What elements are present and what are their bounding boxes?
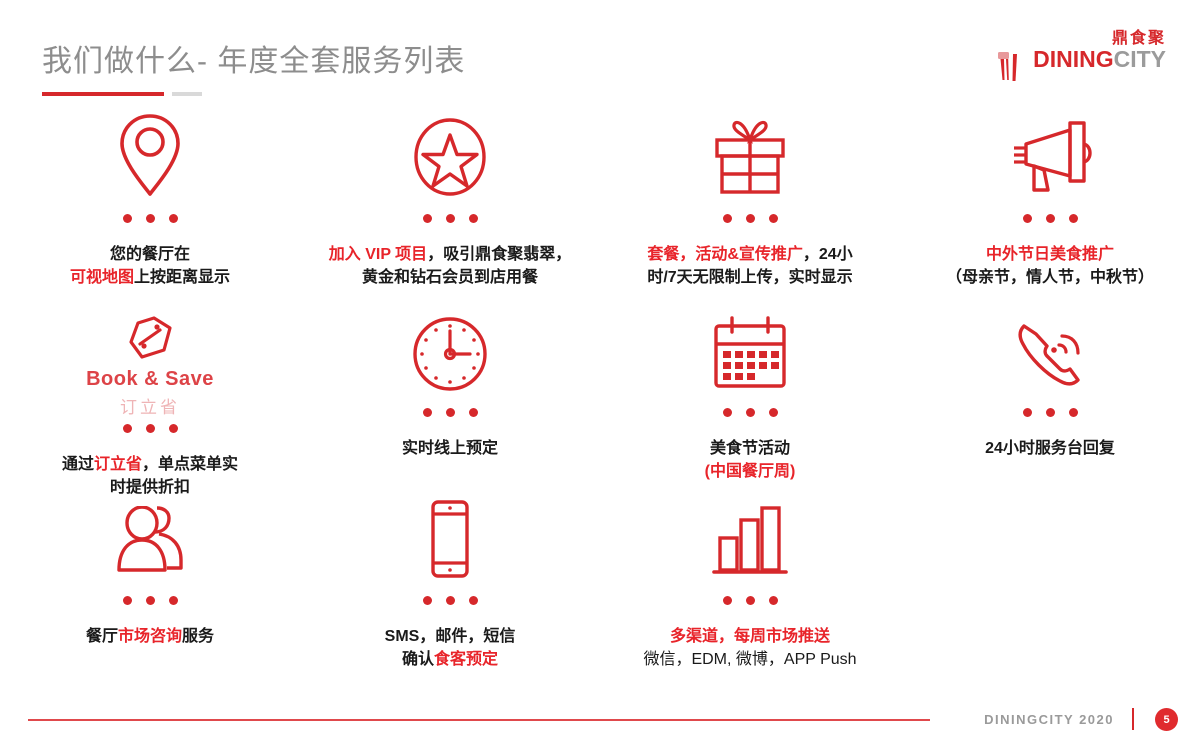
chopsticks-logo-mark-icon: [996, 50, 1022, 82]
clock-icon: [410, 314, 490, 394]
brand-logo-dining: DINING: [1033, 46, 1114, 72]
caption-line: 24小时服务台回复: [985, 437, 1115, 460]
service-item-map[interactable]: 您的餐厅在可视地图上按距离显示: [0, 118, 300, 314]
caption-text: 实时线上预定: [402, 440, 498, 457]
service-item-book-and-save[interactable]: Book & Save 订立省 通过订立省，单点菜单实时提供折扣: [0, 314, 300, 504]
book-and-save-chinese: 订立省: [86, 393, 214, 418]
dots-separator: [423, 408, 478, 417]
dots-separator: [1023, 214, 1078, 223]
service-item-festival-promo[interactable]: 中外节日美食推广（母亲节，情人节，中秋节）: [900, 118, 1200, 314]
caption-highlight: 加入 VIP 项目: [329, 246, 427, 263]
title-underline-red: [42, 92, 164, 96]
caption-highlight: 食客预定: [434, 651, 498, 668]
caption-line: 实时线上预定: [402, 437, 498, 460]
caption-line: 确认食客预定: [385, 648, 516, 671]
footer-divider: [28, 719, 930, 721]
caption-text: 美食节活动: [710, 440, 790, 457]
service-row-3: 餐厅市场咨询服务 SMS，邮件，短信确认食客预定: [0, 504, 1200, 692]
footer-brand: DININGCITY 2020: [984, 712, 1114, 727]
caption-text: SMS，邮件，短信: [385, 628, 516, 645]
caption-highlight: 订立省: [94, 456, 142, 473]
dots-separator: [723, 596, 778, 605]
caption-highlight: 可视地图: [70, 269, 134, 286]
service-caption: 多渠道，每周市场推送微信，EDM, 微博，APP Push: [643, 625, 856, 671]
dots-separator: [723, 214, 778, 223]
dots-separator: [123, 596, 178, 605]
caption-line: 可视地图上按距离显示: [70, 266, 230, 289]
caption-text: 确认: [402, 651, 434, 668]
dots-separator: [123, 214, 178, 223]
service-caption: 中外节日美食推广（母亲节，情人节，中秋节）: [946, 243, 1154, 289]
dots-separator: [123, 424, 178, 433]
caption-line: 时提供折扣: [62, 476, 238, 499]
service-row-2: Book & Save 订立省 通过订立省，单点菜单实时提供折扣: [0, 314, 1200, 504]
calendar-icon: [709, 314, 791, 394]
service-item-sms-confirm[interactable]: SMS，邮件，短信确认食客预定: [300, 504, 600, 692]
caption-highlight: (中国餐厅周): [705, 463, 796, 480]
caption-line: （母亲节，情人节，中秋节）: [946, 266, 1154, 289]
caption-text: ，24小: [803, 246, 853, 263]
gift-box-icon: [707, 118, 793, 198]
service-caption: 通过订立省，单点菜单实时提供折扣: [62, 453, 238, 499]
title-underline-gray: [172, 92, 202, 96]
caption-text: 黄金和钻石会员到店用餐: [362, 269, 538, 286]
page-title: 我们做什么- 年度全套服务列表: [42, 36, 465, 80]
service-item-support-desk[interactable]: 24小时服务台回复: [900, 314, 1200, 504]
book-and-save-lockup: Book & Save 订立省: [86, 368, 214, 418]
bar-chart-icon: [710, 504, 790, 580]
service-caption: 加入 VIP 项目，吸引鼎食聚翡翠，黄金和钻石会员到店用餐: [329, 243, 571, 289]
caption-line: 中外节日美食推广: [946, 243, 1154, 266]
service-caption: 实时线上预定: [402, 437, 498, 460]
dots-separator: [723, 408, 778, 417]
title-underline: [42, 92, 202, 96]
caption-line: 加入 VIP 项目，吸引鼎食聚翡翠，: [329, 243, 571, 266]
service-grid: 您的餐厅在可视地图上按距离显示 加入 VIP 项目，吸引鼎食聚翡翠，黄金和钻石会…: [0, 118, 1200, 692]
brand-logo-english: DININGCITY: [1033, 48, 1166, 71]
dots-separator: [423, 214, 478, 223]
caption-highlight: 多渠道，每周市场推送: [670, 628, 830, 645]
caption-text: 您的餐厅在: [110, 246, 190, 263]
caption-text: 餐厅: [86, 628, 118, 645]
service-caption: 美食节活动(中国餐厅周): [705, 437, 796, 483]
slide-root: 我们做什么- 年度全套服务列表 鼎食聚 DININGCITY: [0, 0, 1200, 749]
service-item-market-consulting[interactable]: 餐厅市场咨询服务: [0, 504, 300, 692]
caption-line: 餐厅市场咨询服务: [86, 625, 214, 648]
caption-highlight: 中外节日美食推广: [986, 246, 1114, 263]
phone-ring-icon: [1010, 314, 1090, 394]
caption-line: 通过订立省，单点菜单实: [62, 453, 238, 476]
caption-text: 时提供折扣: [110, 479, 190, 496]
service-item-vip[interactable]: 加入 VIP 项目，吸引鼎食聚翡翠，黄金和钻石会员到店用餐: [300, 118, 600, 314]
caption-highlight: 套餐，活动&宣传推广: [647, 246, 803, 263]
caption-line: (中国餐厅周): [705, 460, 796, 483]
smartphone-icon: [425, 504, 475, 580]
star-circle-icon: [407, 118, 493, 198]
users-icon: [107, 504, 193, 580]
caption-line: SMS，邮件，短信: [385, 625, 516, 648]
book-and-save-english: Book & Save: [86, 368, 214, 391]
caption-line: 黄金和钻石会员到店用餐: [329, 266, 571, 289]
footer-separator: [1132, 708, 1134, 730]
brand-logo-city: CITY: [1114, 46, 1166, 72]
caption-line: 美食节活动: [705, 437, 796, 460]
brand-logo: 鼎食聚 DININGCITY: [988, 24, 1168, 84]
map-pin-icon: [117, 118, 183, 198]
service-caption: SMS，邮件，短信确认食客预定: [385, 625, 516, 671]
caption-line: 微信，EDM, 微博，APP Push: [643, 648, 856, 671]
caption-text: ，单点菜单实: [142, 456, 238, 473]
discount-tag-icon: [126, 314, 174, 362]
caption-text: 24小时服务台回复: [985, 440, 1115, 457]
caption-text: 时/7天无限制上传，实时显示: [647, 269, 852, 286]
caption-text: 通过: [62, 456, 94, 473]
dots-separator: [423, 596, 478, 605]
dots-separator: [1023, 408, 1078, 417]
service-caption: 24小时服务台回复: [985, 437, 1115, 460]
service-item-multichannel-push[interactable]: 多渠道，每周市场推送微信，EDM, 微博，APP Push: [600, 504, 900, 692]
caption-line: 套餐，活动&宣传推广，24小: [647, 243, 852, 266]
service-item-realtime-booking[interactable]: 实时线上预定: [300, 314, 600, 504]
service-item-promotion[interactable]: 套餐，活动&宣传推广，24小时/7天无限制上传，实时显示: [600, 118, 900, 314]
service-row-1: 您的餐厅在可视地图上按距离显示 加入 VIP 项目，吸引鼎食聚翡翠，黄金和钻石会…: [0, 118, 1200, 314]
caption-line: 您的餐厅在: [70, 243, 230, 266]
caption-text: （母亲节，情人节，中秋节）: [946, 269, 1154, 286]
service-caption: 餐厅市场咨询服务: [86, 625, 214, 648]
caption-text: 服务: [182, 628, 214, 645]
service-item-food-festival[interactable]: 美食节活动(中国餐厅周): [600, 314, 900, 504]
service-caption: 您的餐厅在可视地图上按距离显示: [70, 243, 230, 289]
service-caption: 套餐，活动&宣传推广，24小时/7天无限制上传，实时显示: [647, 243, 852, 289]
caption-line: 多渠道，每周市场推送: [643, 625, 856, 648]
megaphone-icon: [1004, 118, 1096, 198]
caption-line: 时/7天无限制上传，实时显示: [647, 266, 852, 289]
service-item-empty: [900, 504, 1200, 692]
caption-text: 微信，EDM, 微博，APP Push: [643, 651, 856, 668]
page-number-badge: 5: [1155, 708, 1178, 731]
caption-highlight: 市场咨询: [118, 628, 182, 645]
brand-logo-chinese: 鼎食聚: [1112, 24, 1166, 48]
caption-text: 上按距离显示: [134, 269, 230, 286]
caption-text: ，吸引鼎食聚翡翠，: [427, 246, 571, 263]
